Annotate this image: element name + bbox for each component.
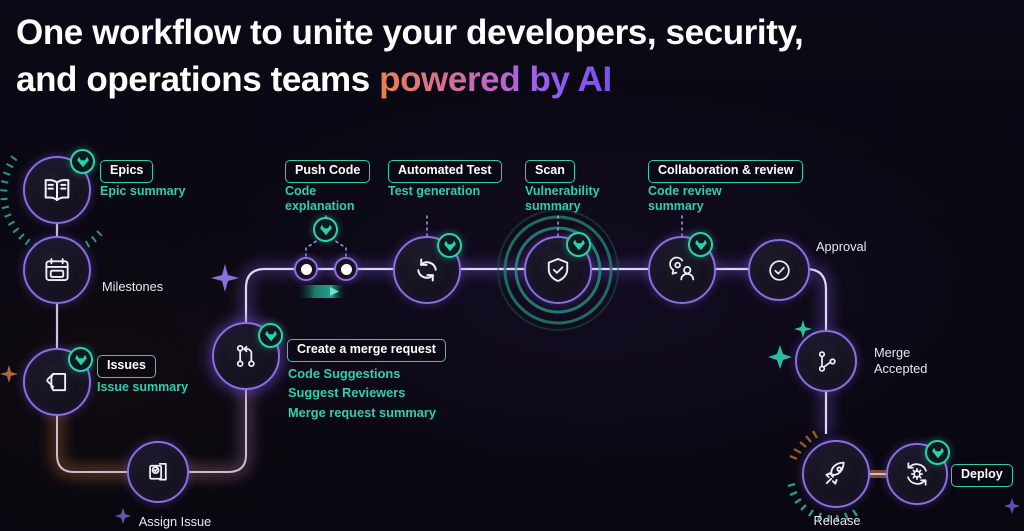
label-automated-test: Automated Test [388,160,502,183]
duo-ai-icon [931,447,945,459]
node-merge-accepted[interactable] [795,330,857,392]
list-item: Code Suggestions [288,364,436,383]
push-code-progress-bar [298,285,346,298]
duo-ai-icon [694,239,708,251]
merge-request-item-list: Code Suggestions Suggest Reviewers Merge… [288,364,436,422]
duo-badge-merge-request[interactable] [258,323,283,348]
list-item: Suggest Reviewers [288,383,436,402]
sub-issues: Issue summary [97,380,188,395]
node-dotted-stems [427,212,682,236]
workflow-infographic: One workflow to unite your developers, s… [0,0,1024,531]
sync-icon [412,255,442,285]
branch-icon [232,341,260,371]
duo-badge-epics[interactable] [70,149,95,174]
duo-ai-icon [264,330,278,342]
duo-ai-icon [443,240,457,252]
merge-icon [813,348,840,375]
label-release: Release [797,513,877,529]
sub-epics: Epic summary [100,184,185,199]
label-collaboration: Collaboration & review [648,160,803,183]
node-approval[interactable] [748,239,810,301]
rocket-icon [821,459,851,489]
path-mr-to-rail [246,269,800,330]
duo-badge-scan[interactable] [566,232,591,257]
commit-dot [301,264,312,275]
list-item: Merge request summary [288,403,436,422]
label-epics: Epics [100,160,153,183]
sub-scan: Vulnerability summary [525,184,600,215]
commit-dot [341,264,352,275]
duo-ai-icon [319,224,333,236]
duo-ai-icon [76,156,90,168]
label-approval: Approval [816,239,867,255]
book-icon [41,174,73,206]
duo-badge-automated-test[interactable] [437,233,462,258]
label-merge-accepted: Merge Accepted [874,345,927,376]
duo-badge-deploy[interactable] [925,440,950,465]
label-scan: Scan [525,160,575,183]
duo-badge-push-code[interactable] [313,217,338,242]
duo-badge-issues[interactable] [68,347,93,372]
label-push-code: Push Code [285,160,370,183]
node-push-code-commit-1[interactable] [294,257,318,281]
label-assign-issue: Assign Issue [120,514,230,530]
assign-icon [144,458,172,486]
duo-ai-icon [74,354,88,366]
sub-push-code: Code explanation [285,184,354,215]
users-review-icon [666,255,698,285]
calendar-icon [42,255,72,285]
sub-automated-test: Test generation [388,184,480,199]
sub-collaboration: Code review summary [648,184,722,215]
node-assign-issue[interactable] [127,441,189,503]
label-milestones: Milestones [102,279,163,295]
duo-ai-icon [572,239,586,251]
check-circle-icon [766,257,793,284]
node-milestones[interactable] [23,236,91,304]
label-issues: Issues [97,355,156,378]
label-merge-request: Create a merge request [287,339,446,362]
gear-cycle-icon [902,459,932,489]
node-release[interactable] [802,440,870,508]
label-deploy: Deploy [951,464,1013,487]
shield-check-icon [543,254,573,286]
duo-badge-collaboration[interactable] [688,232,713,257]
issue-icon [42,367,72,397]
node-push-code-commit-2[interactable] [334,257,358,281]
